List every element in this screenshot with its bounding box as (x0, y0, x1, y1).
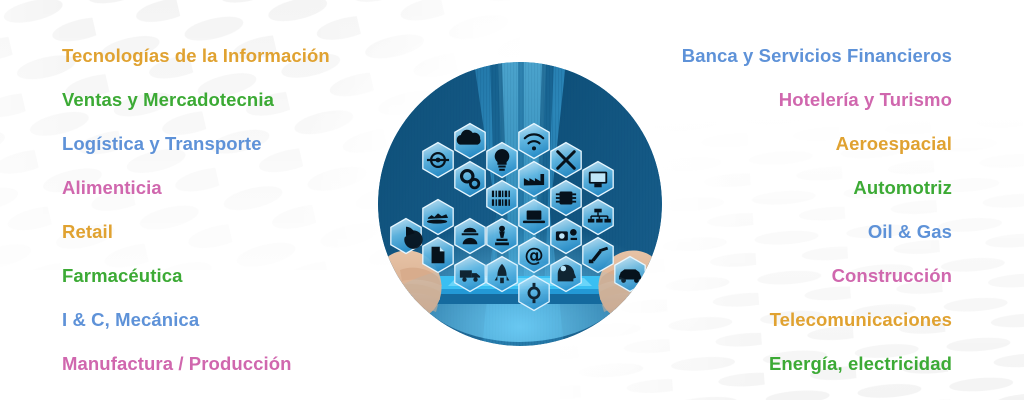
sector-item-left-6[interactable]: I & C, Mecánica (62, 298, 392, 342)
sector-item-right-0[interactable]: Banca y Servicios Financieros (622, 34, 952, 78)
right-sector-column: Banca y Servicios FinancierosHotelería y… (622, 0, 952, 386)
sector-item-right-6[interactable]: Telecomunicaciones (622, 298, 952, 342)
center-photo-circle: @ (378, 62, 662, 346)
sector-item-left-4[interactable]: Retail (62, 210, 392, 254)
sector-item-right-3[interactable]: Automotriz (622, 166, 952, 210)
sector-item-right-5[interactable]: Construcción (622, 254, 952, 298)
sector-item-right-1[interactable]: Hotelería y Turismo (622, 78, 952, 122)
left-sector-column: Tecnologías de la InformaciónVentas y Me… (62, 0, 392, 386)
microchip-icon (556, 192, 576, 205)
sector-item-right-7[interactable]: Energía, electricidad (622, 342, 952, 386)
sector-item-left-1[interactable]: Ventas y Mercadotecnia (62, 78, 392, 122)
sectors-banner: @ (0, 0, 1024, 400)
sector-item-right-2[interactable]: Aeroespacial (622, 122, 952, 166)
businessman-tablet-illustration: @ (378, 62, 662, 346)
sector-item-right-4[interactable]: Oil & Gas (622, 210, 952, 254)
sector-item-left-0[interactable]: Tecnologías de la Información (62, 34, 392, 78)
sector-item-left-5[interactable]: Farmacéutica (62, 254, 392, 298)
sector-item-left-3[interactable]: Alimenticia (62, 166, 392, 210)
sector-item-left-2[interactable]: Logística y Transporte (62, 122, 392, 166)
sector-item-left-7[interactable]: Manufactura / Producción (62, 342, 392, 386)
